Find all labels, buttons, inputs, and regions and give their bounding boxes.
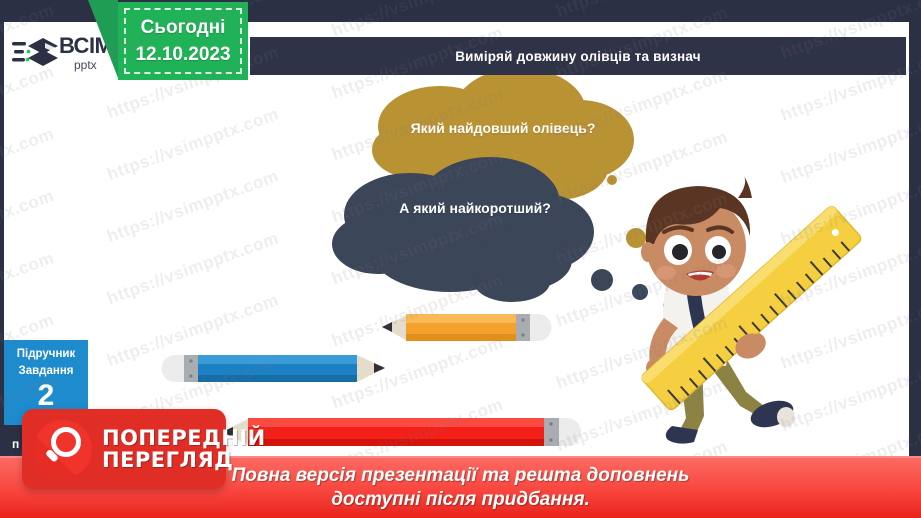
green-ribbon-tail <box>88 0 118 78</box>
gold-bubble-label: Який найдовший олівець? <box>400 118 606 138</box>
slide-canvas: Який найдовший олівець? А який найкоротш… <box>0 0 921 518</box>
slide-title: Виміряй довжину олівців та визнач <box>455 49 701 64</box>
magnifier-icon <box>34 420 92 478</box>
graduation-cap-icon <box>12 34 58 72</box>
left-footer-text: п <box>12 437 19 451</box>
preview-line-1: ПОПЕРЕДНІЙ <box>102 427 266 449</box>
date-badge-value: 12.10.2023 <box>135 44 230 66</box>
preview-badge[interactable]: ПОПЕРЕДНІЙ ПЕРЕГЛЯД <box>22 409 226 489</box>
navy-bubble-label: А який найкоротший? <box>372 198 578 218</box>
task-label: Завдання <box>4 363 88 380</box>
orange-pencil <box>382 314 552 341</box>
preview-line-2: ПЕРЕГЛЯД <box>102 449 266 471</box>
task-number: 2 <box>4 381 88 411</box>
purchase-notice-line-2: доступні після придбання. <box>331 488 590 512</box>
blue-pencil <box>162 355 386 382</box>
date-badge: Сьогодні 12.10.2023 <box>118 2 248 80</box>
textbook-label: Підручник <box>4 346 88 363</box>
slide-title-bar: Виміряй довжину олівців та визнач <box>250 37 906 75</box>
red-pencil <box>222 418 581 446</box>
purchase-notice-line-1: Повна версія презентації та решта доповн… <box>232 464 690 488</box>
date-badge-label: Сьогодні <box>141 17 226 39</box>
